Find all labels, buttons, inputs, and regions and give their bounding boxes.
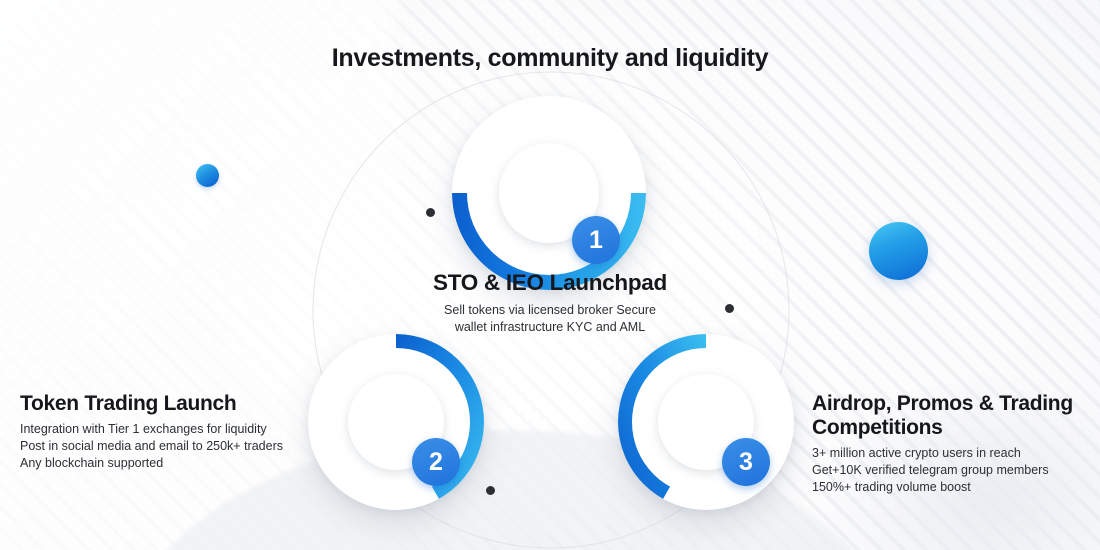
page-title: Investments, community and liquidity: [0, 44, 1100, 73]
connector-dot-left: [426, 208, 435, 217]
blue-sphere-small-icon: [196, 164, 219, 187]
node-one-hub: 1: [499, 143, 599, 243]
block-left: Token Trading Launch Integration with Ti…: [20, 392, 310, 472]
block-left-heading: Token Trading Launch: [20, 392, 310, 416]
block-top-body: Sell tokens via licensed broker Secure w…: [360, 302, 740, 336]
block-top-heading: STO & IEO Launchpad: [360, 270, 740, 296]
block-left-body: Integration with Tier 1 exchanges for li…: [20, 421, 310, 472]
block-top-line-1: Sell tokens via licensed broker Secure: [360, 302, 740, 319]
node-one[interactable]: 1: [452, 96, 646, 290]
block-right-line-1: 3+ million active crypto users in reach: [812, 445, 1097, 462]
node-two-hub: 2: [348, 374, 444, 470]
block-right-heading: Airdrop, Promos & Trading Competitions: [812, 392, 1097, 440]
node-three-badge: 3: [722, 438, 770, 486]
block-top-line-2: wallet infrastructure KYC and AML: [360, 319, 740, 336]
node-three[interactable]: 3: [618, 334, 794, 510]
block-right: Airdrop, Promos & Trading Competitions 3…: [812, 392, 1097, 496]
block-right-line-3: 150%+ trading volume boost: [812, 479, 1097, 496]
connector-dot-bottom: [486, 486, 495, 495]
node-one-badge: 1: [572, 216, 620, 264]
block-left-line-1: Integration with Tier 1 exchanges for li…: [20, 421, 310, 438]
block-left-line-3: Any blockchain supported: [20, 455, 310, 472]
block-right-body: 3+ million active crypto users in reach …: [812, 445, 1097, 496]
block-top: STO & IEO Launchpad Sell tokens via lice…: [360, 270, 740, 336]
blue-sphere-large-icon: [869, 222, 928, 280]
block-right-line-2: Get+10K verified telegram group members: [812, 462, 1097, 479]
node-three-hub: 3: [658, 374, 754, 470]
node-two-badge: 2: [412, 438, 460, 486]
node-two[interactable]: 2: [308, 334, 484, 510]
block-left-line-2: Post in social media and email to 250k+ …: [20, 438, 310, 455]
infographic-canvas: Investments, community and liquidity 1: [0, 0, 1100, 550]
